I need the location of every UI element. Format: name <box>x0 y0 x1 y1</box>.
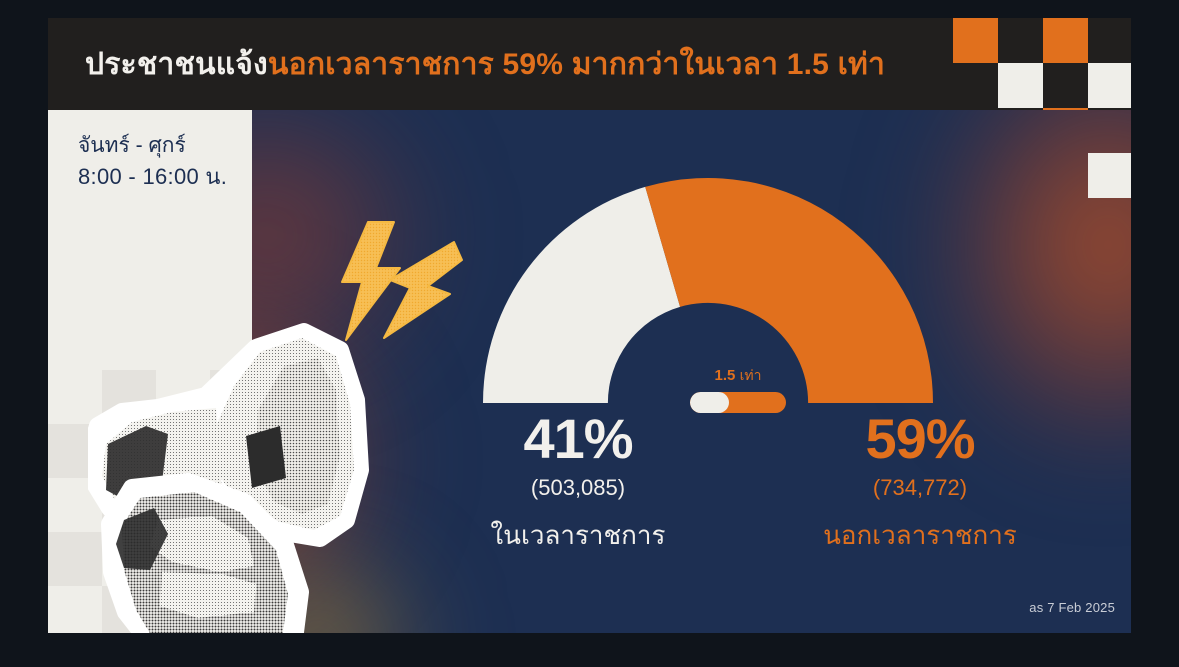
stat-count-in-hours: (503,085) <box>448 470 708 506</box>
checker-square-9 <box>1088 153 1131 198</box>
header-bar: ประชาชนแจ้งนอกเวลาราชการ 59% มากกว่าในเว… <box>48 18 1131 110</box>
checker-square-3 <box>1088 18 1131 63</box>
megaphone-switch <box>246 426 286 488</box>
schedule-text: จันทร์ - ศุกร์ 8:00 - 16:00 น. <box>78 130 227 192</box>
checker-square-2 <box>1043 18 1088 63</box>
infographic-card: ประชาชนแจ้งนอกเวลาราชการ 59% มากกว่าในเว… <box>48 18 1131 633</box>
checkerboard-decoration <box>48 18 1131 110</box>
stat-block-out-hours: 59% (734,772) นอกเวลาราชการ <box>790 408 1050 558</box>
checker-square-6 <box>1043 63 1088 108</box>
ratio-value: 1.5 <box>715 367 736 384</box>
stat-percent-in-hours: 41% <box>448 408 708 470</box>
page-root: ประชาชนแจ้งนอกเวลาราชการ 59% มากกว่าในเว… <box>0 0 1179 667</box>
stat-label-out-hours: นอกเวลาราชการ <box>790 512 1050 558</box>
gauge-segment-in-hours <box>483 187 680 403</box>
checker-square-4 <box>953 63 998 108</box>
lightning-bolt-small <box>384 242 462 338</box>
stat-count-out-hours: (734,772) <box>790 470 1050 506</box>
chart-body: จันทร์ - ศุกร์ 8:00 - 16:00 น. <box>48 110 1131 633</box>
stat-percent-out-hours: 59% <box>790 408 1050 470</box>
checker-square-8 <box>1043 108 1088 110</box>
lightning-bolts-icon <box>306 220 466 360</box>
source-date-note: as 7 Feb 2025 <box>1029 600 1115 615</box>
checker-square-0 <box>953 18 998 63</box>
checker-square-5 <box>998 63 1043 108</box>
checker-square-1 <box>998 18 1043 63</box>
stat-label-in-hours: ในเวลาราชการ <box>448 512 708 558</box>
ratio-indicator: 1.5 เท่า <box>658 365 818 413</box>
schedule-days: จันทร์ - ศุกร์ <box>78 130 227 161</box>
ratio-unit: เท่า <box>740 367 762 383</box>
checker-square-7 <box>1088 63 1131 108</box>
schedule-hours: 8:00 - 16:00 น. <box>78 161 227 192</box>
ratio-label: 1.5 เท่า <box>658 365 818 387</box>
megaphone-illustration <box>88 220 448 633</box>
stat-block-in-hours: 41% (503,085) ในเวลาราชการ <box>448 408 708 558</box>
